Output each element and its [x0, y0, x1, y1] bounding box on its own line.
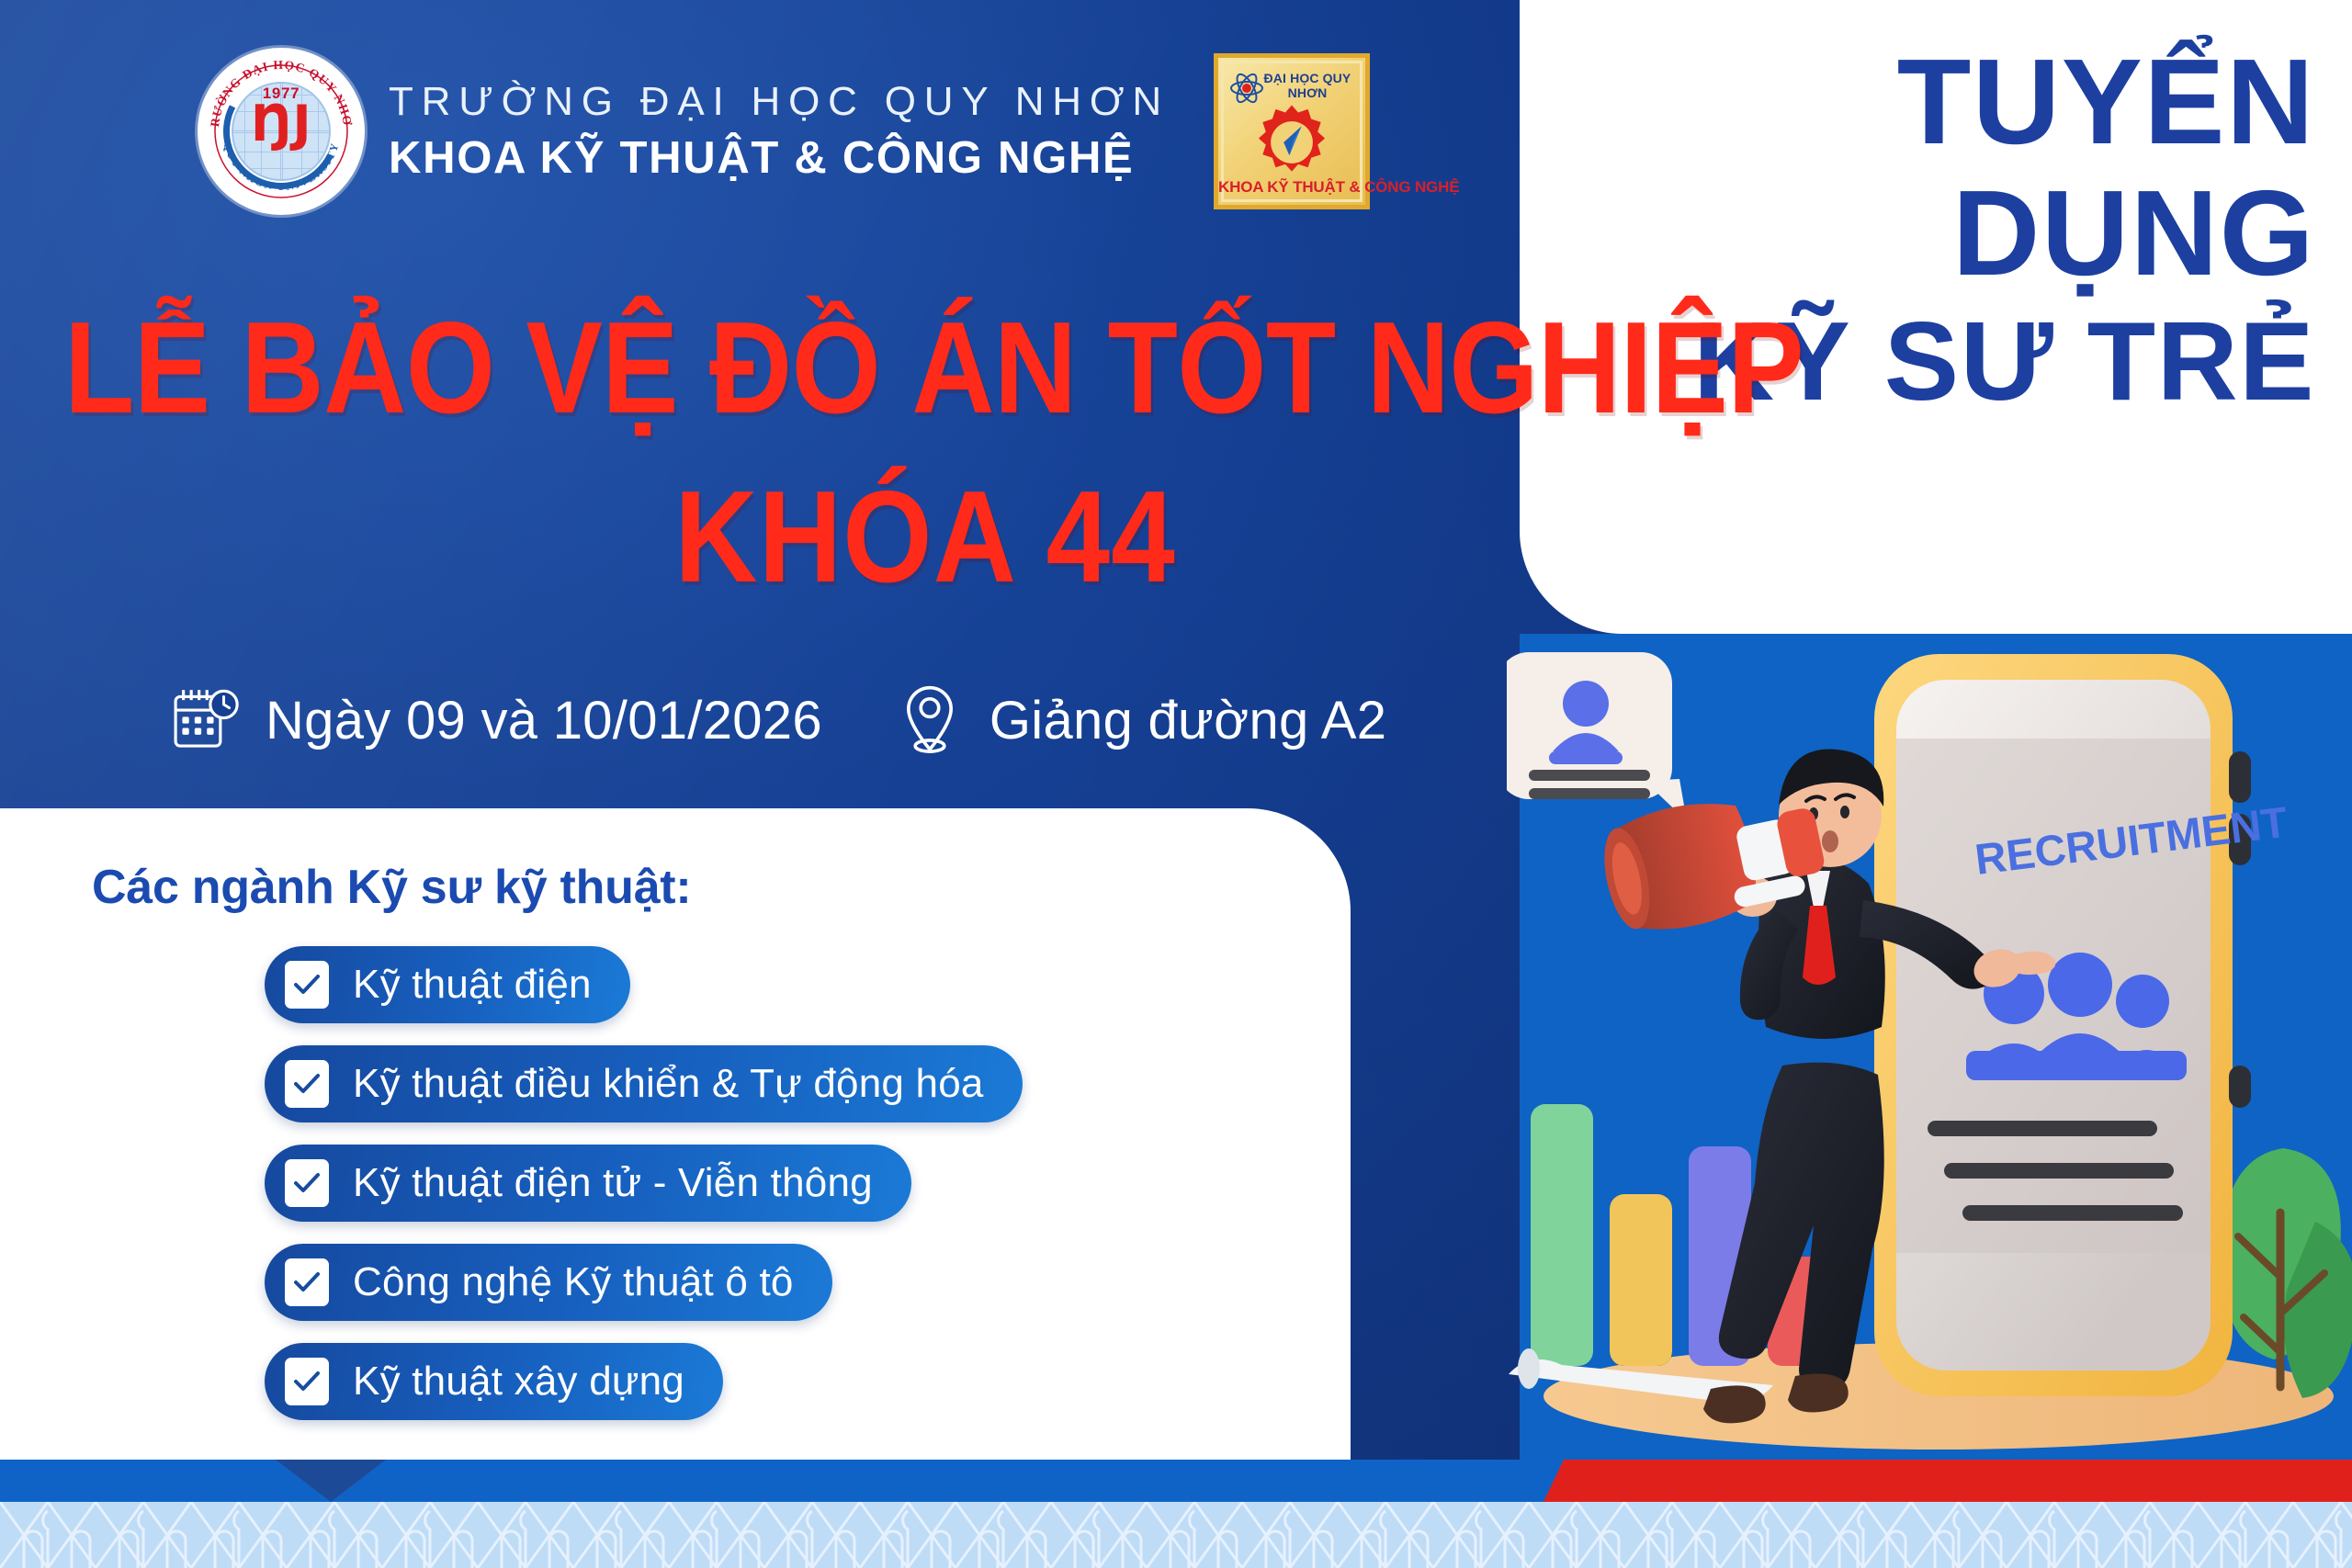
- band-blue-segment: [0, 1460, 1562, 1502]
- faculty-badge-bottom-text: KHOA KỸ THUẬT & CÔNG NGHỆ: [1218, 178, 1365, 197]
- calendar-clock-icon: [170, 684, 242, 756]
- event-location: Giảng đường A2: [989, 690, 1386, 751]
- location-item: Giảng đường A2: [894, 684, 1386, 756]
- event-cohort: KHÓA 44: [141, 472, 2211, 603]
- major-pill[interactable]: Kỹ thuật điều khiển & Tự động hóa: [265, 1045, 1023, 1122]
- faculty-name: KHOA KỸ THUẬT & CÔNG NGHỆ: [389, 132, 1170, 184]
- majors-list: Kỹ thuật điện Kỹ thuật điều khiển & Tự đ…: [265, 946, 1023, 1420]
- quy-nhon-university-seal-icon: TRƯỜNG ĐẠI HỌC QUY NHƠN QUY NHON UNIVERS…: [198, 48, 365, 215]
- majors-heading: Các ngành Kỹ sư kỹ thuật:: [92, 860, 691, 915]
- check-icon: [285, 1358, 329, 1405]
- event-title: LỄ BẢO VỆ ĐỒ ÁN TỐT NGHIỆP: [64, 303, 2077, 434]
- recruitment-line-1: TUYỂN: [1520, 40, 2315, 164]
- giant-smartphone-icon: RECRUITMENT: [1874, 654, 2290, 1396]
- major-pill[interactable]: Kỹ thuật xây dựng: [265, 1343, 723, 1420]
- date-item: Ngày 09 và 10/01/2026: [170, 684, 822, 756]
- potted-plant-icon: [2221, 1148, 2352, 1398]
- bottom-pattern-band: [0, 1502, 2352, 1568]
- faculty-badge-top-text: ĐẠI HỌC QUY NHƠN: [1218, 71, 1365, 100]
- faculty-badge-icon: ĐẠI HỌC QUY NHƠN KHOA KỸ THUẬT & CÔNG NG…: [1214, 53, 1370, 209]
- recruitment-3d-illustration: RECRUITMENT: [1507, 634, 2352, 1461]
- band-red-segment: [1543, 1460, 2352, 1502]
- check-icon: [285, 1159, 329, 1207]
- check-icon: [285, 961, 329, 1009]
- bottom-color-band: [0, 1460, 2352, 1502]
- map-pin-icon: [894, 684, 966, 756]
- check-icon: [285, 1258, 329, 1306]
- major-label: Kỹ thuật xây dựng: [353, 1359, 684, 1404]
- major-pill[interactable]: Kỹ thuật điện tử - Viễn thông: [265, 1145, 911, 1222]
- recruitment-line-2: DỤNG: [1520, 172, 2315, 296]
- check-icon: [285, 1060, 329, 1108]
- poster-root: TUYỂN DỤNG KỸ SƯ TRẺ TRƯỜNG ĐẠI HỌC QUY …: [0, 0, 2352, 1568]
- major-label: Công nghệ Kỹ thuật ô tô: [353, 1259, 794, 1305]
- major-label: Kỹ thuật điều khiển & Tự động hóa: [353, 1061, 984, 1107]
- speech-bubble-profile-card-icon: [1507, 652, 1687, 821]
- majors-panel: Các ngành Kỹ sư kỹ thuật: Kỹ thuật điện …: [0, 808, 1351, 1470]
- meta-row: Ngày 09 và 10/01/2026 Giảng đường A2: [170, 684, 1386, 756]
- header: TRƯỜNG ĐẠI HỌC QUY NHƠN QUY NHON UNIVERS…: [198, 48, 1370, 215]
- major-pill[interactable]: Công nghệ Kỹ thuật ô tô: [265, 1244, 832, 1321]
- title-block: LỄ BẢO VỆ ĐỒ ÁN TỐT NGHIỆP KHÓA 44: [0, 303, 2352, 603]
- gear-icon: [1251, 102, 1332, 183]
- header-text: TRƯỜNG ĐẠI HỌC QUY NHƠN KHOA KỸ THUẬT & …: [389, 79, 1170, 184]
- university-name: TRƯỜNG ĐẠI HỌC QUY NHƠN: [389, 79, 1170, 125]
- major-pill[interactable]: Kỹ thuật điện: [265, 946, 630, 1023]
- event-date: Ngày 09 và 10/01/2026: [266, 690, 822, 751]
- major-label: Kỹ thuật điện tử - Viễn thông: [353, 1160, 873, 1206]
- seal-monogram: ŊJ: [251, 99, 311, 149]
- major-label: Kỹ thuật điện: [353, 962, 592, 1008]
